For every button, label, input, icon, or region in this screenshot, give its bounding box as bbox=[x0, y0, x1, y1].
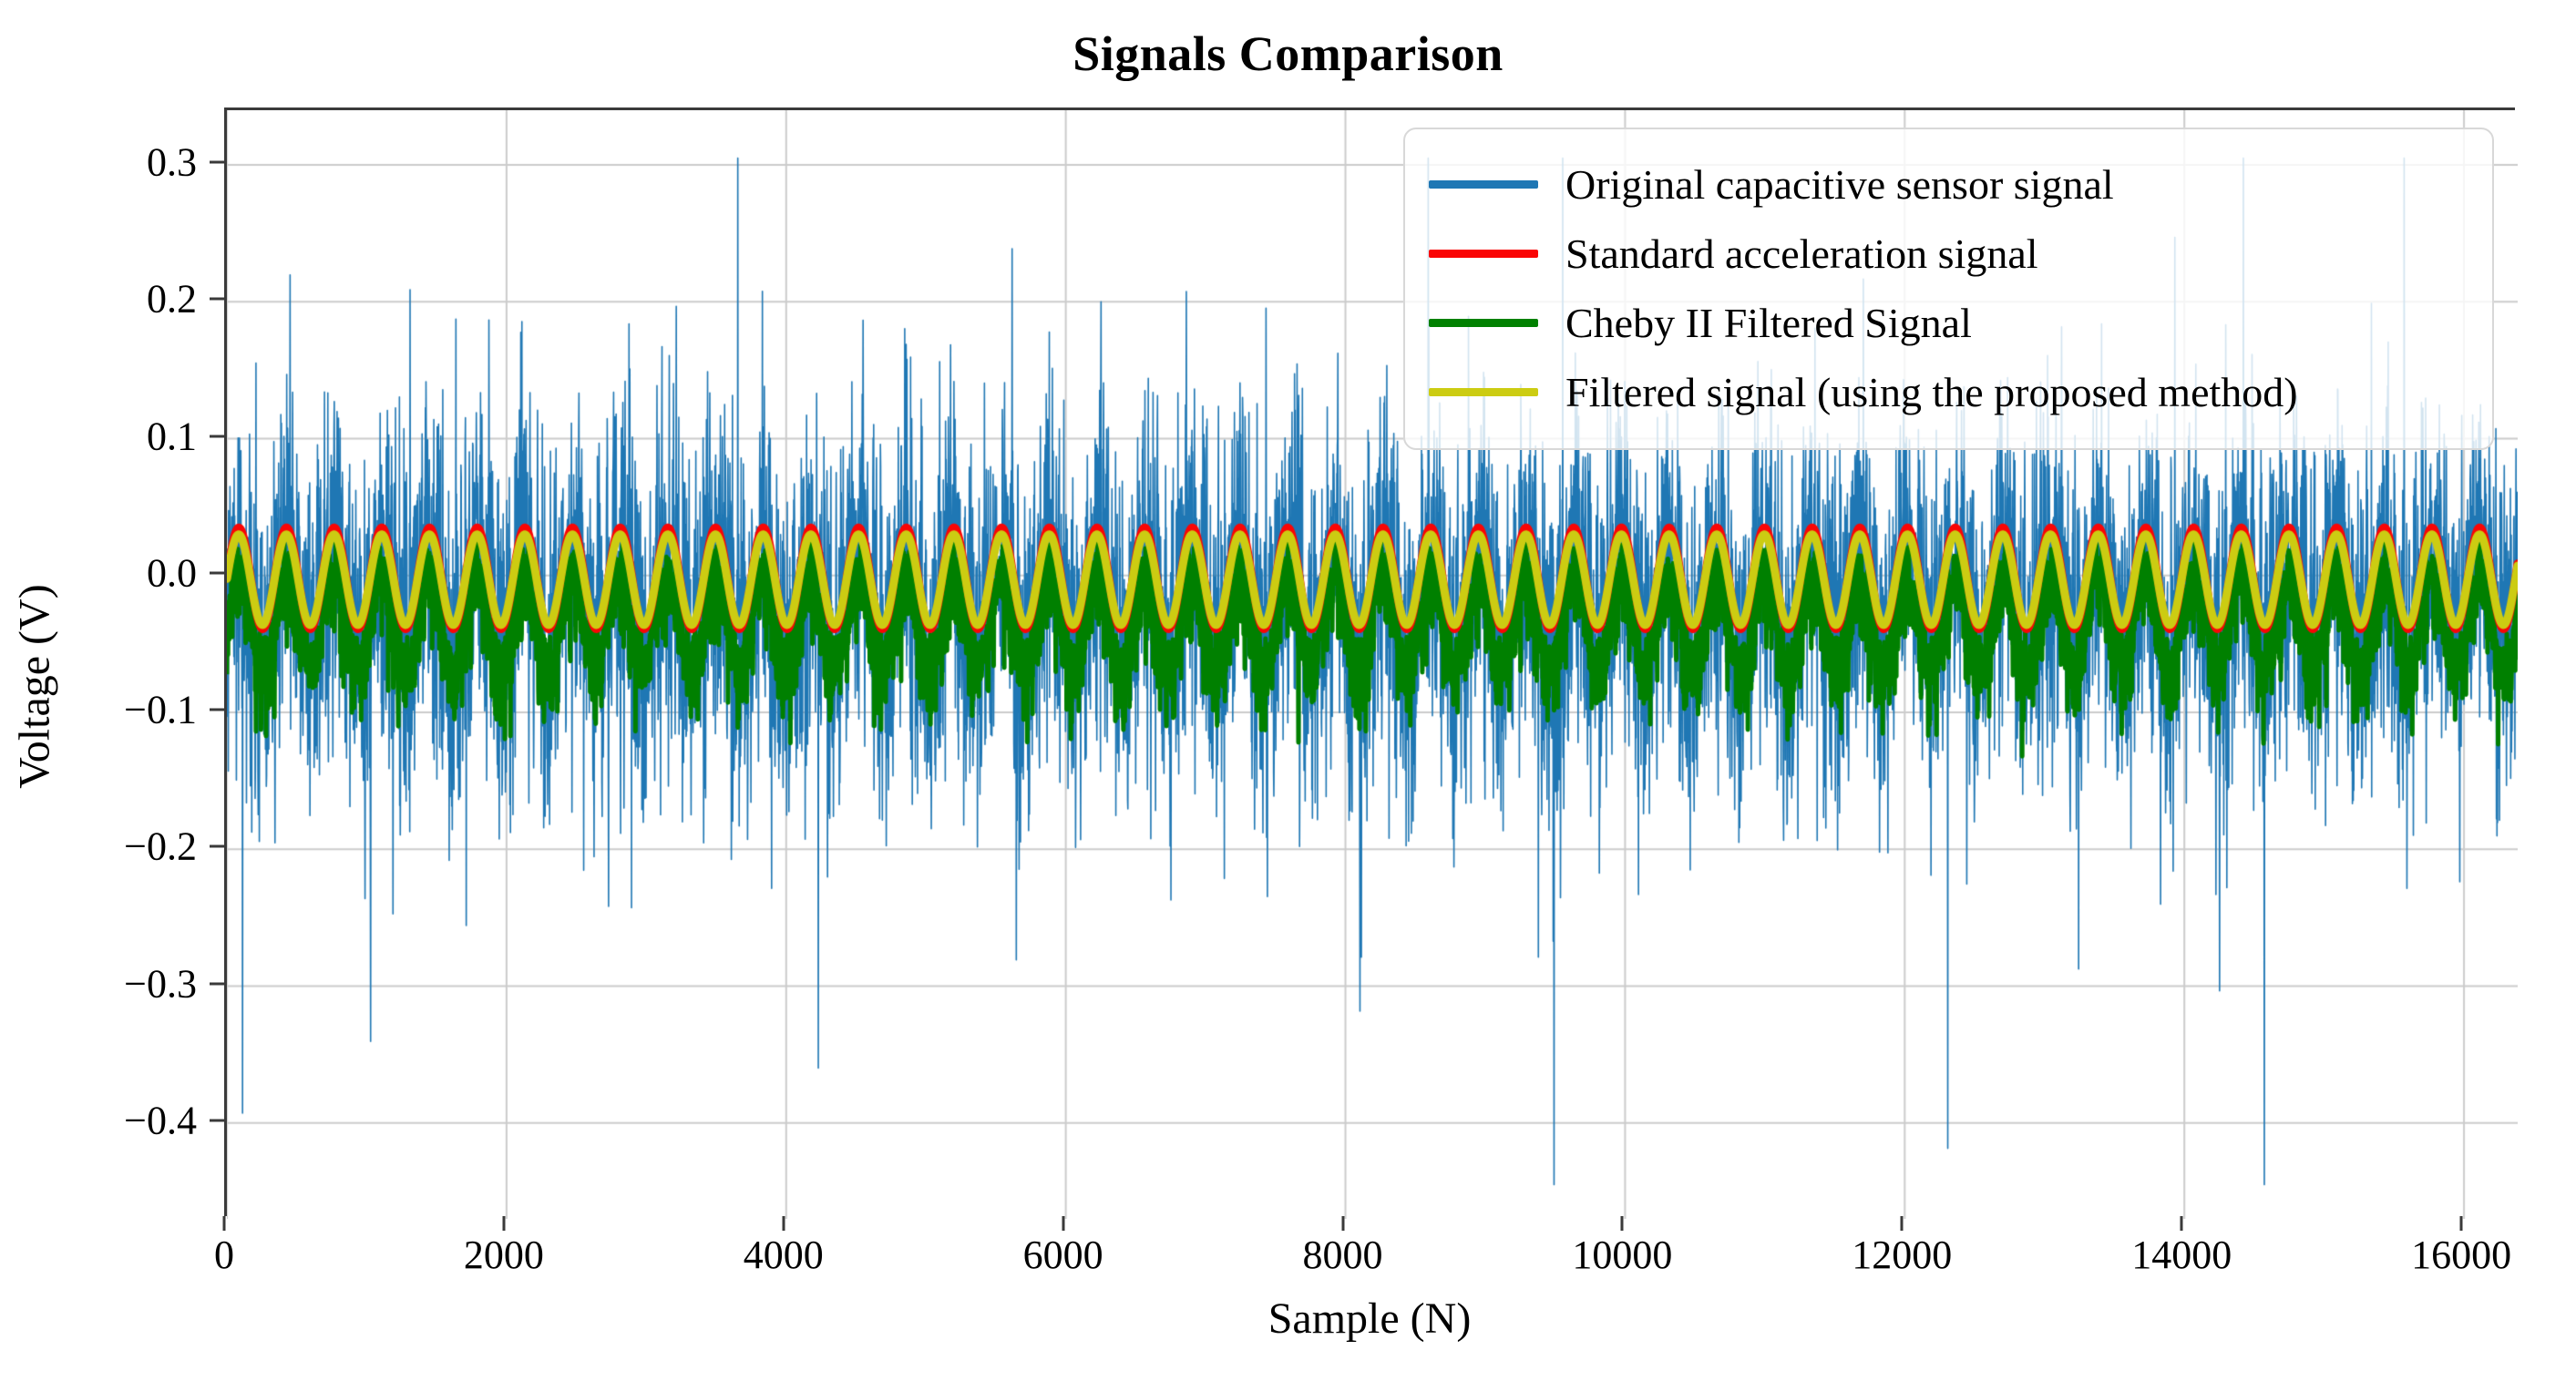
chart-figure: Signals Comparison 0.30.20.10.0−0.1−0.2−… bbox=[0, 0, 2576, 1381]
legend-label-original: Original capacitive sensor signal bbox=[1565, 160, 2114, 209]
chart-title: Signals Comparison bbox=[0, 26, 2576, 82]
legend-item-proposed: Filtered signal (using the proposed meth… bbox=[1429, 357, 2468, 426]
y-tick-label: −0.1 bbox=[46, 687, 197, 733]
x-tick-label: 0 bbox=[214, 1232, 234, 1278]
y-tick-mark bbox=[210, 298, 224, 301]
y-tick-label: 0.1 bbox=[46, 413, 197, 459]
y-tick-label: 0.2 bbox=[46, 276, 197, 322]
chart-legend: Original capacitive sensor signal Standa… bbox=[1403, 128, 2494, 450]
y-axis-label: Voltage (V) bbox=[10, 450, 60, 924]
legend-swatch-cheby bbox=[1429, 319, 1538, 327]
y-tick-mark bbox=[210, 435, 224, 437]
y-tick-label: −0.4 bbox=[46, 1097, 197, 1143]
legend-item-cheby: Cheby II Filtered Signal bbox=[1429, 288, 2468, 357]
x-tick-mark bbox=[1901, 1216, 1904, 1231]
x-axis-label: Sample (N) bbox=[224, 1294, 2515, 1344]
legend-item-standard: Standard acceleration signal bbox=[1429, 219, 2468, 288]
x-tick-label: 6000 bbox=[1023, 1232, 1103, 1278]
x-tick-label: 16000 bbox=[2411, 1232, 2511, 1278]
x-tick-mark bbox=[782, 1216, 785, 1231]
legend-swatch-standard bbox=[1429, 250, 1538, 258]
legend-label-standard: Standard acceleration signal bbox=[1565, 230, 2038, 278]
x-tick-label: 12000 bbox=[1852, 1232, 1952, 1278]
legend-item-original: Original capacitive sensor signal bbox=[1429, 149, 2468, 219]
y-tick-mark bbox=[210, 571, 224, 574]
legend-label-cheby: Cheby II Filtered Signal bbox=[1565, 299, 1972, 347]
legend-label-proposed: Filtered signal (using the proposed meth… bbox=[1565, 368, 2298, 416]
legend-swatch-original bbox=[1429, 180, 1538, 189]
x-tick-mark bbox=[502, 1216, 505, 1231]
x-tick-mark bbox=[2460, 1216, 2463, 1231]
legend-swatch-proposed bbox=[1429, 388, 1538, 396]
y-tick-label: −0.2 bbox=[46, 823, 197, 870]
x-tick-label: 8000 bbox=[1303, 1232, 1383, 1278]
y-tick-mark bbox=[210, 1119, 224, 1121]
x-tick-label: 14000 bbox=[2131, 1232, 2232, 1278]
x-tick-label: 10000 bbox=[1572, 1232, 1672, 1278]
x-tick-label: 4000 bbox=[744, 1232, 824, 1278]
y-tick-mark bbox=[210, 709, 224, 711]
x-tick-mark bbox=[2181, 1216, 2183, 1231]
y-tick-label: 0.3 bbox=[46, 139, 197, 186]
y-tick-mark bbox=[210, 845, 224, 848]
y-tick-label: −0.3 bbox=[46, 960, 197, 1007]
y-tick-label: 0.0 bbox=[46, 549, 197, 596]
x-tick-mark bbox=[1621, 1216, 1624, 1231]
y-tick-mark bbox=[210, 161, 224, 164]
x-tick-mark bbox=[1062, 1216, 1064, 1231]
y-tick-mark bbox=[210, 982, 224, 985]
x-tick-mark bbox=[1341, 1216, 1344, 1231]
x-tick-mark bbox=[223, 1216, 226, 1231]
x-tick-label: 2000 bbox=[464, 1232, 544, 1278]
